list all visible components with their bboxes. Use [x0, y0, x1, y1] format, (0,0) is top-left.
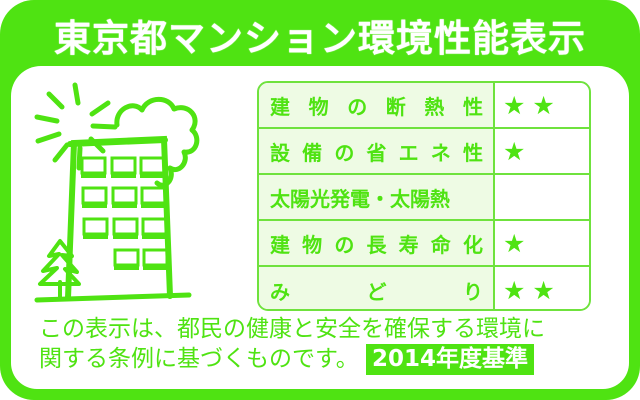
star-icon: ★: [503, 93, 525, 118]
label-char: 性: [463, 91, 483, 120]
rating-stars-insulation: ★ ★: [495, 83, 589, 127]
rating-stars-longevity: ★: [495, 221, 589, 265]
standard-year-badge: 2014年度基準: [366, 344, 534, 375]
rating-stars-solar: [495, 175, 589, 219]
label-char: 熱: [424, 91, 444, 120]
label-char: 省: [366, 137, 386, 166]
label-char: 寿: [399, 229, 419, 258]
star-icon: ★: [503, 139, 525, 164]
ordinance-note: この表示は、都民の健康と安全を確保する環境に 関する条例に基づくものです。 20…: [39, 314, 605, 375]
table-row: み ど り ★ ★: [259, 267, 589, 311]
label-char: 化: [463, 229, 483, 258]
label-char: エ: [399, 137, 419, 166]
label-char: 命: [431, 229, 451, 258]
table-row: 建 物 の 長 寿 命 化 ★: [259, 221, 589, 267]
label-char: ど: [367, 276, 387, 305]
row-label-insulation: 建 物 の 断 熱 性: [259, 83, 495, 127]
label-char: 断: [386, 91, 406, 120]
label-char: 設: [270, 137, 290, 166]
table-row: 建 物 の 断 熱 性 ★ ★: [259, 83, 589, 129]
environmental-performance-table: 建 物 の 断 熱 性 ★ ★ 設 備 の 省 エ: [257, 81, 591, 311]
label-char: の: [334, 137, 354, 166]
label-char: 建: [270, 229, 290, 258]
label-char: 物: [302, 229, 322, 258]
label-char: 太陽光発電・太陽熱: [270, 183, 450, 212]
label-char: 物: [309, 91, 329, 120]
label-char: み: [270, 276, 290, 305]
star-icon: ★: [532, 278, 554, 303]
building-windows: [81, 158, 168, 270]
label-char: 建: [270, 91, 290, 120]
row-label-greenery: み ど り: [259, 267, 495, 311]
label-char: り: [463, 276, 483, 305]
rating-stars-greenery: ★ ★: [495, 267, 589, 311]
label-char: の: [347, 91, 367, 120]
star-icon: ★: [503, 231, 525, 256]
eco-apartment-building-illustration: [29, 76, 244, 306]
row-label-solar: 太陽光発電・太陽熱: [259, 175, 495, 219]
rating-stars-energy-saving: ★: [495, 129, 589, 173]
star-icon: ★: [503, 278, 525, 303]
page-title: 東京都マンション環境性能表示: [0, 6, 640, 64]
label-char: ネ: [431, 137, 451, 166]
label-char: 備: [302, 137, 322, 166]
note-line-1: この表示は、都民の健康と安全を確保する環境に: [39, 314, 605, 344]
label-char: 性: [463, 137, 483, 166]
label-char: の: [334, 229, 354, 258]
table-row: 太陽光発電・太陽熱: [259, 175, 589, 221]
content-panel: 建 物 の 断 熱 性 ★ ★ 設 備 の 省 エ: [11, 66, 629, 389]
note-line-2-row: 関する条例に基づくものです。 2014年度基準: [39, 344, 605, 374]
row-label-longevity: 建 物 の 長 寿 命 化: [259, 221, 495, 265]
placard-background: 東京都マンション環境性能表示: [0, 0, 640, 400]
row-label-energy-saving: 設 備 の 省 エ ネ 性: [259, 129, 495, 173]
label-char: 長: [366, 229, 386, 258]
star-icon: ★: [532, 93, 554, 118]
tree-icon: [40, 241, 79, 298]
table-row: 設 備 の 省 エ ネ 性 ★: [259, 129, 589, 175]
note-line-2: 関する条例に基づくものです。: [39, 346, 359, 372]
